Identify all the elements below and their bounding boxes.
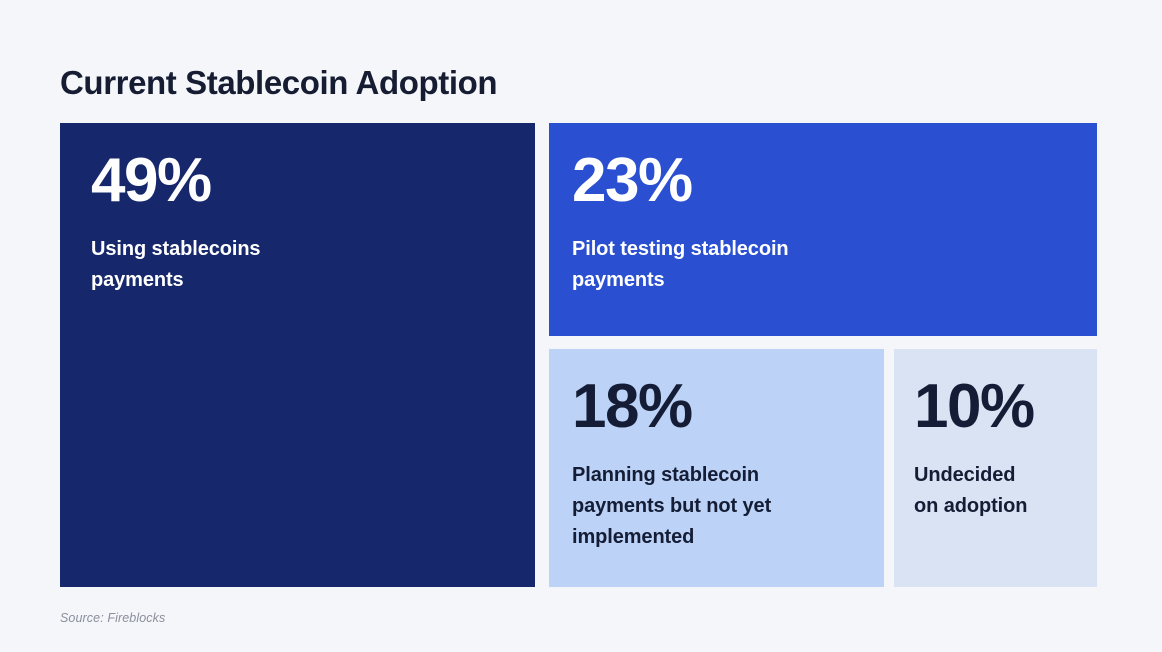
stat-panel-planning: 18% Planning stablecoin payments but not… bbox=[549, 349, 884, 587]
stat-panel-content: 23% Pilot testing stablecoin payments bbox=[572, 150, 1083, 296]
stat-label-pilot: Pilot testing stablecoin payments bbox=[572, 234, 1083, 296]
stat-panel-grid: 49% Using stablecoins payments 23% Pilot… bbox=[60, 123, 1097, 587]
stat-value-planning: 18% bbox=[572, 376, 870, 438]
stat-label-undecided: Undecided on adoption bbox=[914, 460, 1083, 522]
stat-panel-content: 18% Planning stablecoin payments but not… bbox=[572, 376, 870, 553]
stat-label-using: Using stablecoins payments bbox=[91, 234, 521, 296]
stat-panel-content: 49% Using stablecoins payments bbox=[91, 150, 521, 296]
page-title: Current Stablecoin Adoption bbox=[60, 64, 497, 102]
stat-value-pilot: 23% bbox=[572, 150, 1083, 212]
stat-label-planning: Planning stablecoin payments but not yet… bbox=[572, 460, 870, 553]
source-note: Source: Fireblocks bbox=[60, 611, 165, 625]
stat-panel-pilot-testing: 23% Pilot testing stablecoin payments bbox=[549, 123, 1097, 336]
stat-value-using: 49% bbox=[91, 150, 521, 212]
stat-value-undecided: 10% bbox=[914, 376, 1083, 438]
stat-panel-using-stablecoins: 49% Using stablecoins payments bbox=[60, 123, 535, 587]
stat-panel-content: 10% Undecided on adoption bbox=[914, 376, 1083, 522]
stat-panel-undecided: 10% Undecided on adoption bbox=[894, 349, 1097, 587]
